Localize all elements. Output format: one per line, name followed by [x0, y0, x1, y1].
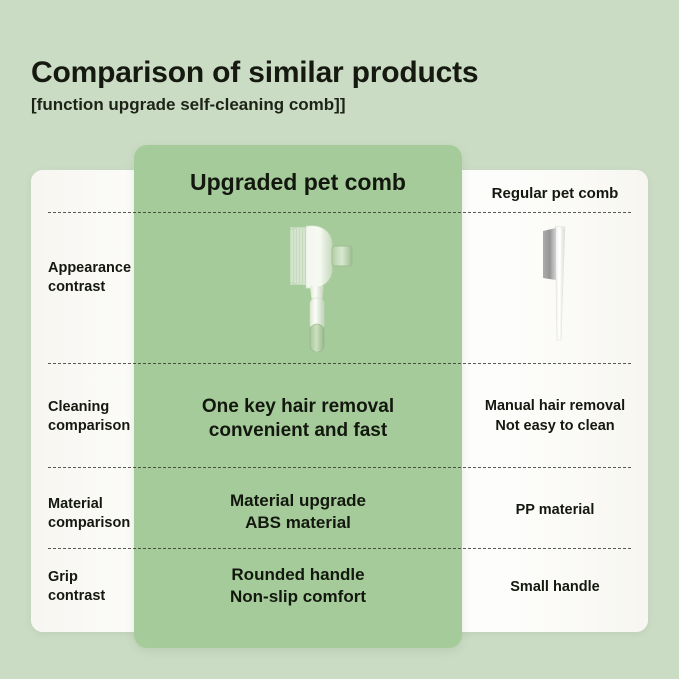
column-header-upgraded: Upgraded pet comb — [134, 169, 462, 196]
cell-regular-cleaning: Manual hair removal Not easy to clean — [462, 397, 648, 436]
cell-line2: convenient and fast — [134, 419, 462, 443]
cell-regular-material: PP material — [462, 501, 648, 521]
row-divider-3 — [48, 467, 631, 468]
row-divider-2 — [48, 363, 631, 364]
row-label-line1: Grip — [48, 568, 134, 587]
row-label-line2: comparison — [48, 514, 134, 533]
upgraded-pet-comb-image — [270, 220, 380, 355]
cell-line1: PP material — [462, 501, 648, 521]
row-label-line1: Cleaning — [48, 398, 134, 417]
cell-upgraded-grip: Rounded handle Non-slip comfort — [134, 564, 462, 608]
cell-line2: Non-slip comfort — [134, 586, 462, 608]
cell-line1: Small handle — [462, 578, 648, 598]
cell-upgraded-cleaning: One key hair removal convenient and fast — [134, 395, 462, 444]
cell-line1: One key hair removal — [134, 395, 462, 419]
row-label-line1: Material — [48, 495, 134, 514]
column-header-regular: Regular pet comb — [462, 185, 648, 202]
row-label-cleaning-comparison: Cleaning comparison — [31, 398, 134, 436]
page-title: Comparison of similar products — [31, 56, 478, 90]
cell-line2: ABS material — [134, 512, 462, 534]
row-label-line2: comparison — [48, 417, 134, 436]
page-subtitle: [function upgrade self-cleaning comb]] — [31, 95, 346, 115]
comparison-table: Comparison of similar products [function… — [0, 0, 679, 679]
row-label-line2: contrast — [48, 587, 134, 606]
row-divider-1 — [48, 212, 631, 213]
row-label-material-comparison: Material comparison — [31, 495, 134, 533]
row-label-line2: contrast — [48, 278, 134, 297]
row-label-line1: Appearance — [48, 259, 134, 278]
cell-upgraded-material: Material upgrade ABS material — [134, 490, 462, 534]
cell-line1: Material upgrade — [134, 490, 462, 512]
row-label-grip-contrast: Grip contrast — [31, 568, 134, 606]
cell-line1: Rounded handle — [134, 564, 462, 586]
cell-line2: Not easy to clean — [462, 417, 648, 437]
regular-pet-comb-image — [515, 222, 605, 354]
row-label-appearance-contrast: Appearance contrast — [31, 259, 134, 297]
row-divider-4 — [48, 548, 631, 549]
cell-regular-grip: Small handle — [462, 578, 648, 598]
cell-line1: Manual hair removal — [462, 397, 648, 417]
